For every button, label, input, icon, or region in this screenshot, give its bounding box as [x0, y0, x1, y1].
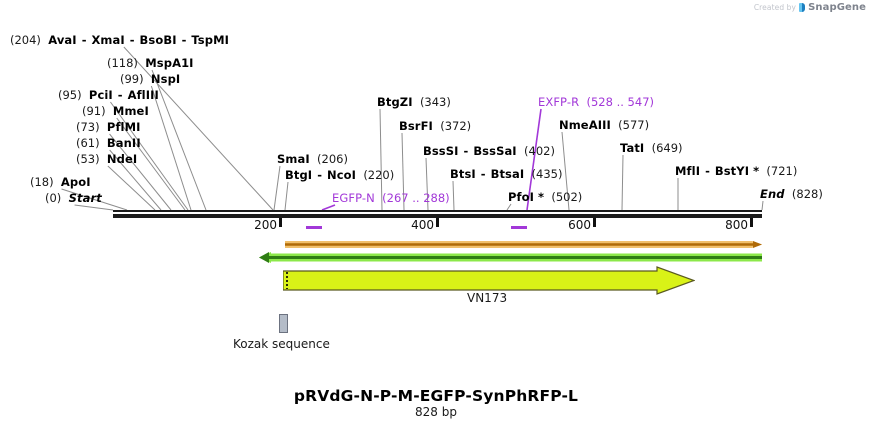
site-position: (206)	[317, 152, 348, 166]
restriction-site-label[interactable]: (95) PciI - AflIII	[58, 89, 159, 101]
plasmid-size: 828 bp	[0, 405, 872, 419]
site-name: NspI	[151, 72, 180, 86]
backbone-outline	[113, 210, 762, 212]
restriction-site-label[interactable]: (91) MmeI	[82, 105, 149, 117]
plasmid-name: pRVdG-N-P-M-EGFP-SynPhRFP-L	[0, 387, 872, 405]
site-position: (502)	[551, 190, 582, 204]
site-name: BtgZI	[377, 95, 413, 109]
site-name: BtgI	[285, 168, 312, 182]
site-name: AvaI	[48, 33, 76, 47]
site-name: XmaI	[91, 33, 124, 47]
site-position: (649)	[652, 141, 683, 155]
site-position: (721)	[766, 164, 797, 178]
site-name: Start	[69, 191, 102, 205]
site-name: PflMI	[107, 120, 141, 134]
name-separator: -	[459, 144, 474, 158]
feature-arrow-green[interactable]	[259, 252, 762, 263]
kozak-sequence-box[interactable]	[279, 314, 288, 333]
site-position: (372)	[440, 119, 471, 133]
site-star-marker: *	[534, 190, 544, 204]
site-name: End	[760, 187, 785, 201]
site-name: BssSI	[423, 144, 459, 158]
restriction-site-label[interactable]: SmaI (206)	[277, 153, 348, 165]
site-name: EGFP-N	[332, 191, 375, 205]
site-name: AflIII	[128, 88, 159, 102]
feature-label-vn173: VN173	[0, 291, 872, 305]
restriction-site-label[interactable]: (118) MspA1I	[107, 57, 194, 69]
feature-arrow-shape	[283, 267, 694, 294]
site-name: MflI	[675, 164, 700, 178]
kozak-sequence-label: Kozak sequence	[233, 337, 330, 351]
primer-ruler-mark	[306, 226, 322, 229]
site-position: (220)	[363, 168, 394, 182]
site-position: (53)	[76, 152, 100, 166]
restriction-site-label[interactable]: (18) ApoI	[30, 176, 91, 188]
site-name: PciI	[89, 88, 113, 102]
site-position: (435)	[532, 167, 563, 181]
site-position: (118)	[107, 56, 138, 70]
site-name: TspMI	[191, 33, 229, 47]
site-name: BsrFI	[399, 119, 433, 133]
restriction-site-label[interactable]: (73) PflMI	[76, 121, 141, 133]
ruler-tick-label: 200	[254, 218, 279, 232]
site-name: TatI	[620, 141, 644, 155]
site-position: (91)	[82, 104, 106, 118]
primer-ruler-mark	[511, 226, 527, 229]
site-name: BtsaI	[491, 167, 525, 181]
restriction-site-label[interactable]: BsrFI (372)	[399, 120, 471, 132]
site-name: NcoI	[327, 168, 356, 182]
site-position: (828)	[792, 187, 823, 201]
site-name: BsoBI	[140, 33, 177, 47]
restriction-site-label[interactable]: BtgZI (343)	[377, 96, 451, 108]
restriction-site-label[interactable]: NmeAIII (577)	[559, 119, 649, 131]
ruler-tick	[593, 218, 596, 227]
name-separator: -	[312, 168, 327, 182]
name-separator: -	[177, 33, 192, 47]
coordinate-ruler: 200400600800	[0, 218, 872, 236]
restriction-site-label[interactable]: (99) NspI	[120, 73, 180, 85]
site-name: MmeI	[113, 104, 149, 118]
snapgene-linear-map: Created by SnapGene (204) AvaI - XmaI - …	[0, 0, 872, 426]
site-name: BanII	[107, 136, 141, 150]
restriction-site-label[interactable]: (53) NdeI	[76, 153, 137, 165]
restriction-site-label[interactable]: TatI (649)	[620, 142, 683, 154]
site-name: MspA1I	[145, 56, 193, 70]
site-name: BssSaI	[473, 144, 516, 158]
restriction-site-label[interactable]: BtgI - NcoI (220)	[285, 169, 394, 181]
site-star-marker: *	[749, 164, 759, 178]
site-position: (73)	[76, 120, 100, 134]
site-position: (267 .. 288)	[382, 191, 450, 205]
ruler-tick	[750, 218, 753, 227]
restriction-site-label[interactable]: MflI - BstYI * (721)	[675, 165, 797, 177]
name-separator: -	[125, 33, 140, 47]
ruler-tick-label: 400	[411, 218, 436, 232]
site-name: SmaI	[277, 152, 310, 166]
restriction-site-label[interactable]: (204) AvaI - XmaI - BsoBI - TspMI	[10, 34, 229, 46]
primer-label[interactable]: EXFP-R (528 .. 547)	[538, 96, 654, 108]
site-position: (0)	[45, 191, 61, 205]
site-name: BtsI	[450, 167, 476, 181]
site-label-layer: (204) AvaI - XmaI - BsoBI - TspMI(118) M…	[0, 0, 872, 210]
site-position: (528 .. 547)	[587, 95, 655, 109]
site-position: (343)	[420, 95, 451, 109]
name-separator: -	[113, 88, 128, 102]
restriction-site-label[interactable]: BssSI - BssSaI (402)	[423, 145, 555, 157]
site-name: BstYI	[715, 164, 749, 178]
sequence-endpoint-label[interactable]: End (828)	[760, 188, 823, 200]
site-position: (99)	[120, 72, 144, 86]
site-name: ApoI	[61, 175, 91, 189]
restriction-site-label[interactable]: BtsI - BtsaI (435)	[450, 168, 562, 180]
primer-label[interactable]: EGFP-N (267 .. 288)	[332, 192, 450, 204]
site-position: (61)	[76, 136, 100, 150]
sequence-endpoint-label[interactable]: (0) Start	[45, 192, 102, 204]
site-position: (204)	[10, 33, 41, 47]
site-name: NmeAIII	[559, 118, 611, 132]
site-position: (18)	[30, 175, 54, 189]
restriction-site-label[interactable]: (61) BanII	[76, 137, 141, 149]
ruler-tick	[279, 218, 282, 227]
site-position: (95)	[58, 88, 82, 102]
name-separator: -	[700, 164, 715, 178]
name-separator: -	[476, 167, 491, 181]
site-name: EXFP-R	[538, 95, 579, 109]
name-separator: -	[77, 33, 92, 47]
site-position: (402)	[524, 144, 555, 158]
ruler-tick-label: 600	[568, 218, 593, 232]
site-name: NdeI	[107, 152, 137, 166]
feature-arrow-orange[interactable]	[285, 241, 762, 248]
site-name: PfoI	[508, 190, 534, 204]
ruler-tick-label: 800	[725, 218, 750, 232]
ruler-tick	[436, 218, 439, 227]
restriction-site-label[interactable]: PfoI * (502)	[508, 191, 582, 203]
site-position: (577)	[618, 118, 649, 132]
